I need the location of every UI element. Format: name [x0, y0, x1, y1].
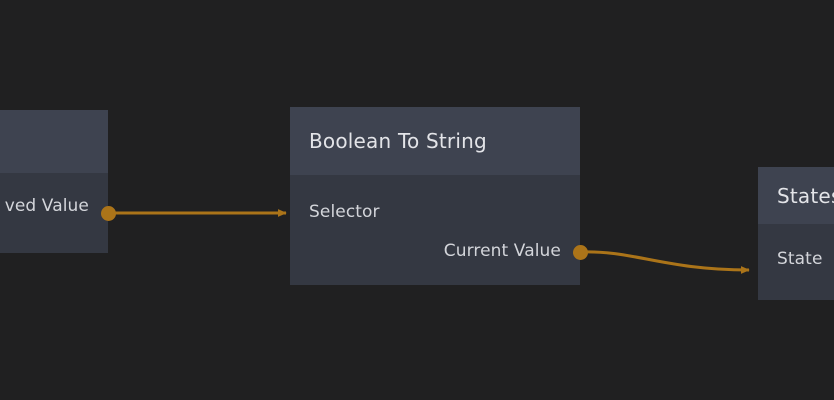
node-right-partial[interactable]: States State: [758, 167, 834, 300]
output-port-dot-current-value[interactable]: [573, 245, 588, 260]
node-boolean-to-string[interactable]: Boolean To String Selector Current Value: [290, 107, 580, 285]
input-port-label: State: [777, 249, 823, 269]
node-body: Selector Current Value: [290, 175, 580, 285]
output-port-label: Current Value: [444, 241, 561, 261]
node-title: States: [777, 184, 834, 208]
node-graph-canvas[interactable]: ved Value Boolean To String Selector Cur…: [0, 0, 834, 400]
node-header[interactable]: States: [758, 167, 834, 224]
output-port-label: ved Value: [5, 196, 89, 216]
node-body: ved Value: [0, 173, 108, 253]
node-header[interactable]: [0, 110, 108, 173]
input-port-selector[interactable]: Selector: [309, 202, 380, 222]
node-left-partial[interactable]: ved Value: [0, 110, 108, 253]
node-title: Boolean To String: [309, 129, 487, 153]
output-port-dot-received-value[interactable]: [101, 206, 116, 221]
input-port-label: Selector: [309, 202, 380, 222]
wire-current-value-to-state[interactable]: [580, 252, 749, 270]
output-port-current-value[interactable]: Current Value: [444, 241, 561, 261]
input-port-state[interactable]: State: [777, 249, 823, 269]
node-body: State: [758, 224, 834, 300]
output-port-received-value[interactable]: ved Value: [5, 196, 89, 216]
node-header[interactable]: Boolean To String: [290, 107, 580, 175]
